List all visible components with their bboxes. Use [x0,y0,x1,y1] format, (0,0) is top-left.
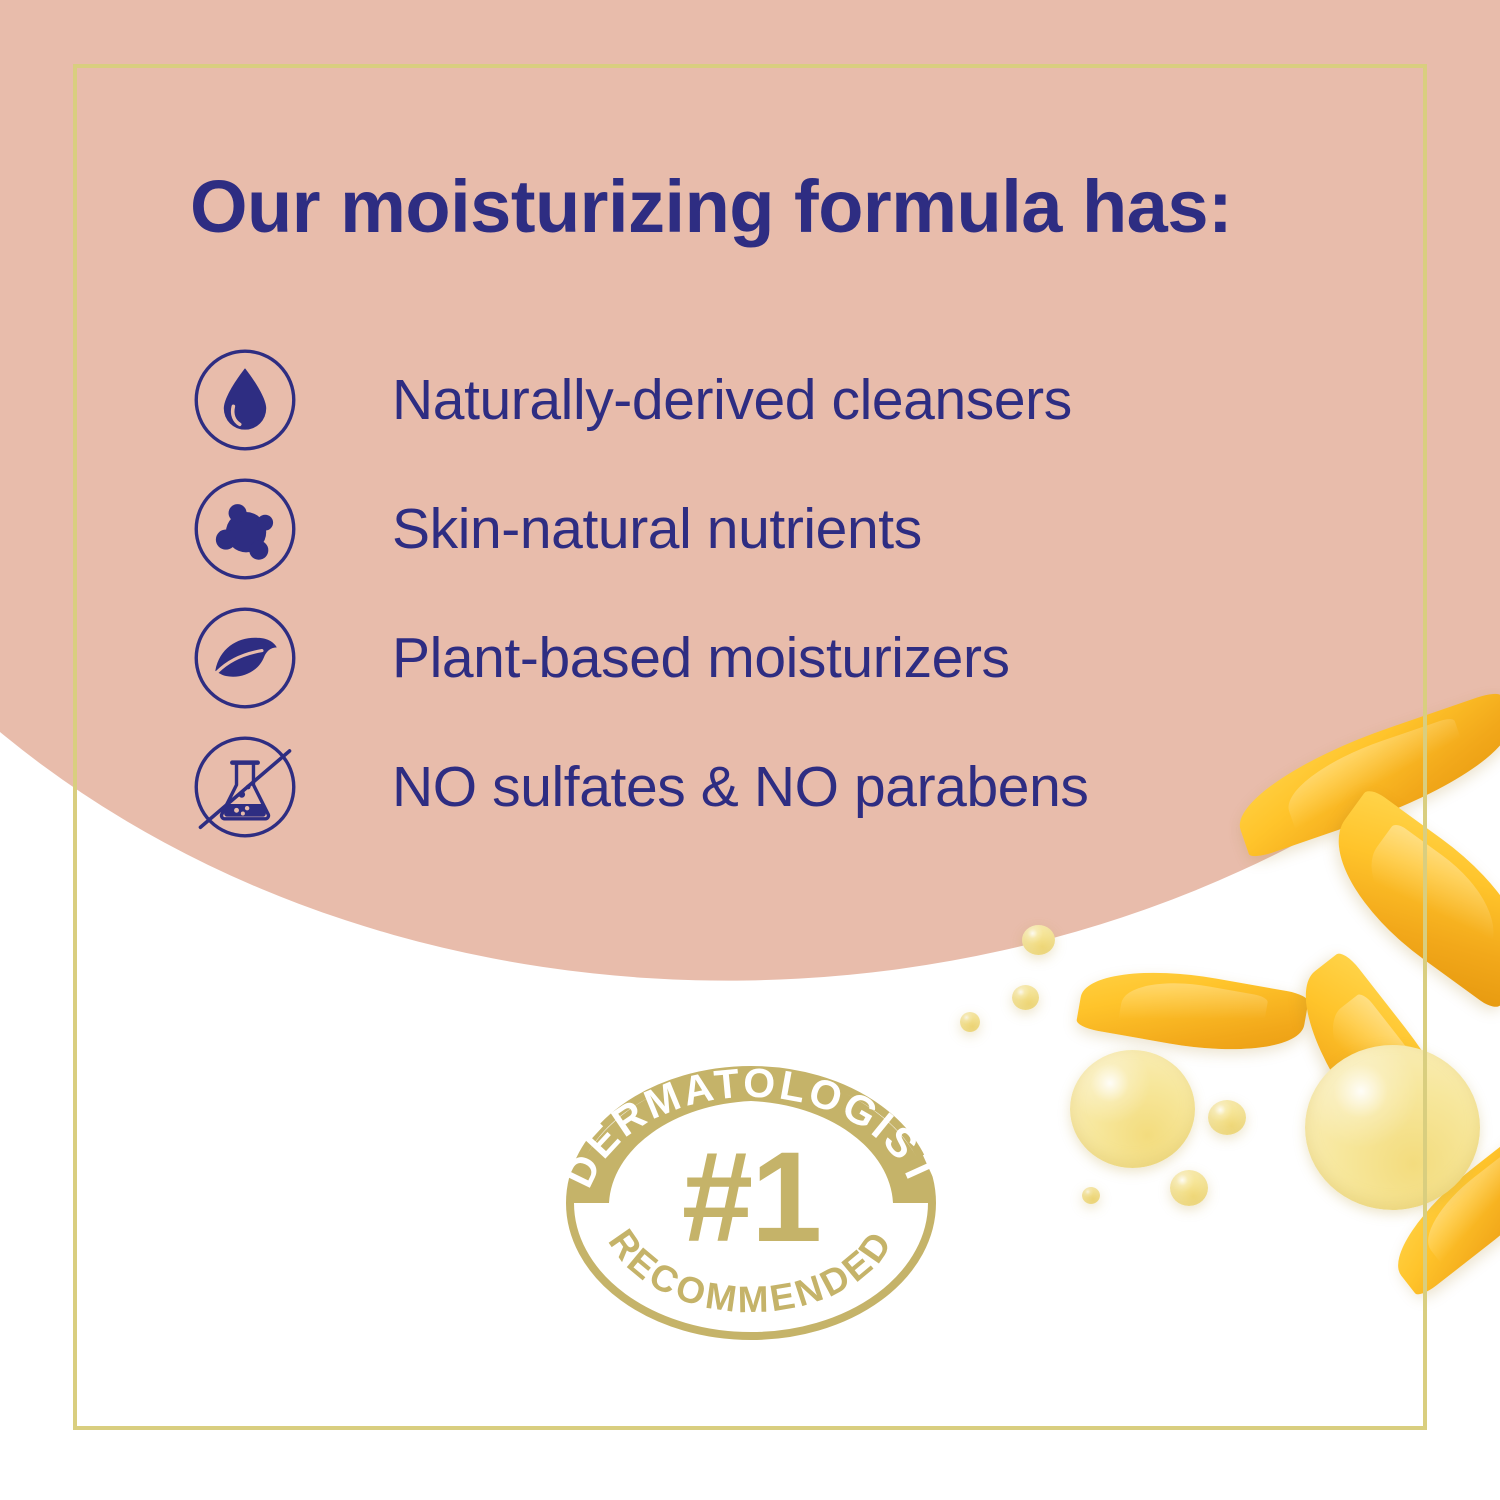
oil-droplet [1082,1187,1100,1204]
dermatologist-recommended-badge: DERMATOLOGIST #1 RECOMMENDED [551,1063,951,1343]
infographic-canvas: Our moisturizing formula has: Naturally-… [0,0,1500,1500]
list-item: Plant-based moisturizers [192,593,1292,722]
flower-petal [1376,1111,1500,1299]
list-item: Naturally-derived cleansers [192,335,1292,464]
molecule-icon [192,476,298,582]
oil-droplet [1305,1045,1480,1210]
list-item-label: NO sulfates & NO parabens [392,754,1089,820]
list-item: Skin-natural nutrients [192,464,1292,593]
oil-droplet [1170,1170,1208,1206]
list-item-label: Skin-natural nutrients [392,496,922,562]
page-title: Our moisturizing formula has: [190,168,1370,246]
oil-droplet [1070,1050,1195,1168]
list-item-label: Naturally-derived cleansers [392,367,1072,433]
flower-petal [1075,956,1309,1066]
benefits-list: Naturally-derived cleansers Skin-natural… [192,335,1292,851]
oil-droplet [1208,1100,1246,1135]
badge-rank-text: #1 [682,1126,820,1269]
list-item-label: Plant-based moisturizers [392,625,1010,691]
oil-droplet [960,1012,980,1032]
oil-droplet [1012,985,1039,1010]
flower-petal [1273,949,1498,1201]
list-item: NO sulfates & NO parabens [192,722,1292,851]
water-droplet-icon [192,347,298,453]
no-chemicals-flask-icon [192,734,298,840]
leaf-icon [192,605,298,711]
